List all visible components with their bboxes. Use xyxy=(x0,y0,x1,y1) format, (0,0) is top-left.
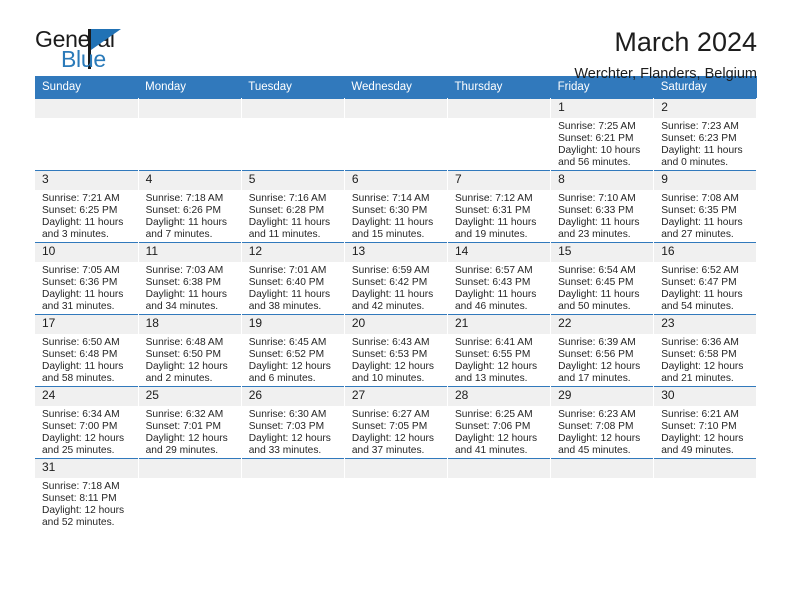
sunrise-text: Sunrise: 7:18 AM xyxy=(42,481,134,493)
daylight-text-line2: and 31 minutes. xyxy=(42,301,134,313)
daylight-text-line2: and 11 minutes. xyxy=(249,229,340,241)
day-number: 5 xyxy=(242,171,344,190)
daylight-text-line1: Daylight: 12 hours xyxy=(146,361,237,373)
sunrise-text: Sunrise: 6:54 AM xyxy=(558,265,649,277)
weekday-header-thursday: Thursday xyxy=(448,76,551,99)
calendar-cell-empty xyxy=(138,99,241,171)
day-number: 12 xyxy=(242,243,344,262)
calendar-day-cell[interactable]: 14Sunrise: 6:57 AMSunset: 6:43 PMDayligh… xyxy=(448,243,551,315)
daylight-text-line1: Daylight: 12 hours xyxy=(558,433,649,445)
calendar-week-row: 17Sunrise: 6:50 AMSunset: 6:48 PMDayligh… xyxy=(35,315,757,387)
calendar-day-cell[interactable]: 12Sunrise: 7:01 AMSunset: 6:40 PMDayligh… xyxy=(241,243,344,315)
sunset-text: Sunset: 6:31 PM xyxy=(455,205,546,217)
sunrise-text: Sunrise: 6:27 AM xyxy=(352,409,443,421)
day-details: Sunrise: 7:18 AMSunset: 6:26 PMDaylight:… xyxy=(139,190,241,241)
calendar-cell-empty xyxy=(448,99,551,171)
day-number-strip xyxy=(654,459,756,478)
calendar-day-cell[interactable]: 29Sunrise: 6:23 AMSunset: 7:08 PMDayligh… xyxy=(551,387,654,459)
daylight-text-line1: Daylight: 12 hours xyxy=(249,361,340,373)
daylight-text-line2: and 41 minutes. xyxy=(455,445,546,457)
sunrise-text: Sunrise: 7:25 AM xyxy=(558,121,649,133)
sunrise-text: Sunrise: 7:21 AM xyxy=(42,193,134,205)
day-number-strip xyxy=(139,99,241,118)
day-details: Sunrise: 6:52 AMSunset: 6:47 PMDaylight:… xyxy=(654,262,756,313)
daylight-text-line2: and 38 minutes. xyxy=(249,301,340,313)
daylight-text-line2: and 56 minutes. xyxy=(558,157,649,169)
daylight-text-line2: and 34 minutes. xyxy=(146,301,237,313)
day-details: Sunrise: 6:21 AMSunset: 7:10 PMDaylight:… xyxy=(654,406,756,457)
calendar-cell-empty xyxy=(344,459,447,531)
day-details: Sunrise: 6:41 AMSunset: 6:55 PMDaylight:… xyxy=(448,334,550,385)
sunset-text: Sunset: 6:26 PM xyxy=(146,205,237,217)
sunset-text: Sunset: 7:08 PM xyxy=(558,421,649,433)
sunrise-text: Sunrise: 6:41 AM xyxy=(455,337,546,349)
day-number: 4 xyxy=(139,171,241,190)
logo-text-blue: Blue xyxy=(61,48,106,71)
sunrise-text: Sunrise: 6:59 AM xyxy=(352,265,443,277)
daylight-text-line1: Daylight: 11 hours xyxy=(661,289,752,301)
daylight-text-line2: and 58 minutes. xyxy=(42,373,134,385)
day-details: Sunrise: 7:25 AMSunset: 6:21 PMDaylight:… xyxy=(551,118,653,169)
day-number: 21 xyxy=(448,315,550,334)
daylight-text-line1: Daylight: 11 hours xyxy=(558,289,649,301)
calendar-week-row: 24Sunrise: 6:34 AMSunset: 7:00 PMDayligh… xyxy=(35,387,757,459)
calendar-day-cell[interactable]: 28Sunrise: 6:25 AMSunset: 7:06 PMDayligh… xyxy=(448,387,551,459)
sunrise-text: Sunrise: 7:03 AM xyxy=(146,265,237,277)
calendar-body: 1Sunrise: 7:25 AMSunset: 6:21 PMDaylight… xyxy=(35,99,757,531)
day-details: Sunrise: 6:48 AMSunset: 6:50 PMDaylight:… xyxy=(139,334,241,385)
sunset-text: Sunset: 6:55 PM xyxy=(455,349,546,361)
calendar-week-row: 10Sunrise: 7:05 AMSunset: 6:36 PMDayligh… xyxy=(35,243,757,315)
daylight-text-line2: and 6 minutes. xyxy=(249,373,340,385)
calendar-day-cell[interactable]: 6Sunrise: 7:14 AMSunset: 6:30 PMDaylight… xyxy=(344,171,447,243)
day-details: Sunrise: 6:30 AMSunset: 7:03 PMDaylight:… xyxy=(242,406,344,457)
sunset-text: Sunset: 7:05 PM xyxy=(352,421,443,433)
sunrise-text: Sunrise: 6:48 AM xyxy=(146,337,237,349)
daylight-text-line1: Daylight: 12 hours xyxy=(42,433,134,445)
calendar-day-cell[interactable]: 17Sunrise: 6:50 AMSunset: 6:48 PMDayligh… xyxy=(35,315,138,387)
sunset-text: Sunset: 6:28 PM xyxy=(249,205,340,217)
sunset-text: Sunset: 6:43 PM xyxy=(455,277,546,289)
day-number-strip xyxy=(242,459,344,478)
sunrise-text: Sunrise: 6:52 AM xyxy=(661,265,752,277)
calendar-cell-empty xyxy=(138,459,241,531)
daylight-text-line1: Daylight: 11 hours xyxy=(146,289,237,301)
sunrise-text: Sunrise: 7:16 AM xyxy=(249,193,340,205)
day-details: Sunrise: 6:23 AMSunset: 7:08 PMDaylight:… xyxy=(551,406,653,457)
day-details: Sunrise: 6:39 AMSunset: 6:56 PMDaylight:… xyxy=(551,334,653,385)
calendar-day-cell[interactable]: 26Sunrise: 6:30 AMSunset: 7:03 PMDayligh… xyxy=(241,387,344,459)
day-details: Sunrise: 7:08 AMSunset: 6:35 PMDaylight:… xyxy=(654,190,756,241)
daylight-text-line1: Daylight: 11 hours xyxy=(42,289,134,301)
day-details: Sunrise: 6:50 AMSunset: 6:48 PMDaylight:… xyxy=(35,334,138,385)
day-number: 19 xyxy=(242,315,344,334)
day-details: Sunrise: 6:59 AMSunset: 6:42 PMDaylight:… xyxy=(345,262,447,313)
calendar-day-cell[interactable]: 20Sunrise: 6:43 AMSunset: 6:53 PMDayligh… xyxy=(344,315,447,387)
calendar-day-cell[interactable]: 13Sunrise: 6:59 AMSunset: 6:42 PMDayligh… xyxy=(344,243,447,315)
daylight-text-line1: Daylight: 11 hours xyxy=(558,217,649,229)
calendar-cell-empty xyxy=(344,99,447,171)
daylight-text-line2: and 45 minutes. xyxy=(558,445,649,457)
daylight-text-line2: and 3 minutes. xyxy=(42,229,134,241)
daylight-text-line1: Daylight: 11 hours xyxy=(661,145,752,157)
day-number: 6 xyxy=(345,171,447,190)
daylight-text-line2: and 52 minutes. xyxy=(42,517,134,529)
daylight-text-line1: Daylight: 12 hours xyxy=(42,505,134,517)
sunrise-text: Sunrise: 6:21 AM xyxy=(661,409,752,421)
sunrise-text: Sunrise: 7:08 AM xyxy=(661,193,752,205)
daylight-text-line2: and 33 minutes. xyxy=(249,445,340,457)
sunrise-text: Sunrise: 6:34 AM xyxy=(42,409,134,421)
daylight-text-line2: and 17 minutes. xyxy=(558,373,649,385)
sunset-text: Sunset: 6:42 PM xyxy=(352,277,443,289)
sunrise-text: Sunrise: 7:23 AM xyxy=(661,121,752,133)
day-number: 10 xyxy=(35,243,138,262)
sunset-text: Sunset: 6:21 PM xyxy=(558,133,649,145)
daylight-text-line2: and 10 minutes. xyxy=(352,373,443,385)
day-details: Sunrise: 7:12 AMSunset: 6:31 PMDaylight:… xyxy=(448,190,550,241)
day-number: 9 xyxy=(654,171,756,190)
daylight-text-line1: Daylight: 11 hours xyxy=(352,289,443,301)
calendar-day-cell[interactable]: 24Sunrise: 6:34 AMSunset: 7:00 PMDayligh… xyxy=(35,387,138,459)
sunrise-text: Sunrise: 6:57 AM xyxy=(455,265,546,277)
calendar-day-cell[interactable]: 7Sunrise: 7:12 AMSunset: 6:31 PMDaylight… xyxy=(448,171,551,243)
daylight-text-line1: Daylight: 11 hours xyxy=(352,217,443,229)
daylight-text-line2: and 37 minutes. xyxy=(352,445,443,457)
day-number-strip xyxy=(242,99,344,118)
sunrise-text: Sunrise: 6:39 AM xyxy=(558,337,649,349)
calendar-cell-empty xyxy=(241,459,344,531)
general-blue-logo[interactable]: General Blue xyxy=(35,28,165,76)
day-details: Sunrise: 6:45 AMSunset: 6:52 PMDaylight:… xyxy=(242,334,344,385)
day-number-strip xyxy=(448,99,550,118)
sunset-text: Sunset: 7:00 PM xyxy=(42,421,134,433)
sunrise-text: Sunrise: 6:32 AM xyxy=(146,409,237,421)
daylight-text-line1: Daylight: 10 hours xyxy=(558,145,649,157)
sunset-text: Sunset: 8:11 PM xyxy=(42,493,134,505)
sunset-text: Sunset: 6:48 PM xyxy=(42,349,134,361)
sunset-text: Sunset: 6:35 PM xyxy=(661,205,752,217)
calendar-day-cell[interactable]: 18Sunrise: 6:48 AMSunset: 6:50 PMDayligh… xyxy=(138,315,241,387)
daylight-text-line2: and 0 minutes. xyxy=(661,157,752,169)
day-details: Sunrise: 7:01 AMSunset: 6:40 PMDaylight:… xyxy=(242,262,344,313)
daylight-text-line2: and 15 minutes. xyxy=(352,229,443,241)
day-details: Sunrise: 7:10 AMSunset: 6:33 PMDaylight:… xyxy=(551,190,653,241)
sunset-text: Sunset: 6:33 PM xyxy=(558,205,649,217)
daylight-text-line1: Daylight: 11 hours xyxy=(42,217,134,229)
daylight-text-line1: Daylight: 11 hours xyxy=(455,217,546,229)
day-number: 2 xyxy=(654,99,756,118)
calendar-day-cell[interactable]: 8Sunrise: 7:10 AMSunset: 6:33 PMDaylight… xyxy=(551,171,654,243)
calendar-day-cell[interactable]: 19Sunrise: 6:45 AMSunset: 6:52 PMDayligh… xyxy=(241,315,344,387)
day-details: Sunrise: 7:21 AMSunset: 6:25 PMDaylight:… xyxy=(35,190,138,241)
calendar-day-cell[interactable]: 15Sunrise: 6:54 AMSunset: 6:45 PMDayligh… xyxy=(551,243,654,315)
sunset-text: Sunset: 6:53 PM xyxy=(352,349,443,361)
calendar-cell-empty xyxy=(35,99,138,171)
sunrise-text: Sunrise: 7:14 AM xyxy=(352,193,443,205)
day-number-strip xyxy=(35,99,138,118)
sunset-text: Sunset: 6:36 PM xyxy=(42,277,134,289)
daylight-text-line1: Daylight: 11 hours xyxy=(455,289,546,301)
day-number: 22 xyxy=(551,315,653,334)
sunrise-text: Sunrise: 6:30 AM xyxy=(249,409,340,421)
day-details: Sunrise: 7:14 AMSunset: 6:30 PMDaylight:… xyxy=(345,190,447,241)
daylight-text-line2: and 13 minutes. xyxy=(455,373,546,385)
calendar-day-cell[interactable]: 2Sunrise: 7:23 AMSunset: 6:23 PMDaylight… xyxy=(654,99,757,171)
daylight-text-line1: Daylight: 11 hours xyxy=(661,217,752,229)
day-number: 1 xyxy=(551,99,653,118)
daylight-text-line2: and 25 minutes. xyxy=(42,445,134,457)
daylight-text-line2: and 49 minutes. xyxy=(661,445,752,457)
day-number-strip xyxy=(139,459,241,478)
sunrise-text: Sunrise: 6:25 AM xyxy=(455,409,546,421)
day-number: 18 xyxy=(139,315,241,334)
sunrise-text: Sunrise: 6:43 AM xyxy=(352,337,443,349)
daylight-text-line1: Daylight: 11 hours xyxy=(249,289,340,301)
day-number-strip xyxy=(551,459,653,478)
day-details: Sunrise: 6:25 AMSunset: 7:06 PMDaylight:… xyxy=(448,406,550,457)
day-number: 20 xyxy=(345,315,447,334)
day-details: Sunrise: 7:18 AMSunset: 8:11 PMDaylight:… xyxy=(35,478,138,529)
calendar-day-cell[interactable]: 30Sunrise: 6:21 AMSunset: 7:10 PMDayligh… xyxy=(654,387,757,459)
daylight-text-line2: and 2 minutes. xyxy=(146,373,237,385)
daylight-text-line2: and 27 minutes. xyxy=(661,229,752,241)
sunrise-text: Sunrise: 6:36 AM xyxy=(661,337,752,349)
calendar-day-cell[interactable]: 16Sunrise: 6:52 AMSunset: 6:47 PMDayligh… xyxy=(654,243,757,315)
day-number: 3 xyxy=(35,171,138,190)
daylight-text-line1: Daylight: 12 hours xyxy=(455,433,546,445)
weekday-header-tuesday: Tuesday xyxy=(241,76,344,99)
daylight-text-line2: and 21 minutes. xyxy=(661,373,752,385)
daylight-text-line1: Daylight: 12 hours xyxy=(352,361,443,373)
page-header: General Blue March 2024 Werchter, Flande… xyxy=(35,0,757,68)
page-title: March 2024 xyxy=(574,28,757,58)
sunset-text: Sunset: 6:47 PM xyxy=(661,277,752,289)
day-number: 24 xyxy=(35,387,138,406)
weekday-header-monday: Monday xyxy=(138,76,241,99)
day-number-strip xyxy=(448,459,550,478)
day-details: Sunrise: 7:03 AMSunset: 6:38 PMDaylight:… xyxy=(139,262,241,313)
calendar-day-cell[interactable]: 1Sunrise: 7:25 AMSunset: 6:21 PMDaylight… xyxy=(551,99,654,171)
day-details: Sunrise: 6:57 AMSunset: 6:43 PMDaylight:… xyxy=(448,262,550,313)
sunset-text: Sunset: 7:10 PM xyxy=(661,421,752,433)
sunrise-text: Sunrise: 6:45 AM xyxy=(249,337,340,349)
daylight-text-line2: and 46 minutes. xyxy=(455,301,546,313)
sunrise-text: Sunrise: 7:01 AM xyxy=(249,265,340,277)
sunrise-text: Sunrise: 7:10 AM xyxy=(558,193,649,205)
sunset-text: Sunset: 6:45 PM xyxy=(558,277,649,289)
day-number: 7 xyxy=(448,171,550,190)
day-details: Sunrise: 7:23 AMSunset: 6:23 PMDaylight:… xyxy=(654,118,756,169)
day-details: Sunrise: 6:27 AMSunset: 7:05 PMDaylight:… xyxy=(345,406,447,457)
day-number: 25 xyxy=(139,387,241,406)
calendar-day-cell[interactable]: 22Sunrise: 6:39 AMSunset: 6:56 PMDayligh… xyxy=(551,315,654,387)
calendar-cell-empty xyxy=(448,459,551,531)
calendar-week-row: 31Sunrise: 7:18 AMSunset: 8:11 PMDayligh… xyxy=(35,459,757,531)
calendar-day-cell[interactable]: 9Sunrise: 7:08 AMSunset: 6:35 PMDaylight… xyxy=(654,171,757,243)
daylight-text-line1: Daylight: 11 hours xyxy=(42,361,134,373)
sunset-text: Sunset: 7:01 PM xyxy=(146,421,237,433)
daylight-text-line2: and 42 minutes. xyxy=(352,301,443,313)
day-details: Sunrise: 6:32 AMSunset: 7:01 PMDaylight:… xyxy=(139,406,241,457)
calendar-page: General Blue March 2024 Werchter, Flande… xyxy=(0,0,792,612)
sunrise-text: Sunrise: 7:05 AM xyxy=(42,265,134,277)
day-number: 30 xyxy=(654,387,756,406)
calendar-day-cell[interactable]: 3Sunrise: 7:21 AMSunset: 6:25 PMDaylight… xyxy=(35,171,138,243)
calendar-week-row: 3Sunrise: 7:21 AMSunset: 6:25 PMDaylight… xyxy=(35,171,757,243)
day-details: Sunrise: 6:54 AMSunset: 6:45 PMDaylight:… xyxy=(551,262,653,313)
sunrise-text: Sunrise: 7:12 AM xyxy=(455,193,546,205)
calendar-day-cell[interactable]: 27Sunrise: 6:27 AMSunset: 7:05 PMDayligh… xyxy=(344,387,447,459)
calendar-day-cell[interactable]: 4Sunrise: 7:18 AMSunset: 6:26 PMDaylight… xyxy=(138,171,241,243)
sunset-text: Sunset: 6:40 PM xyxy=(249,277,340,289)
calendar-cell-empty xyxy=(241,99,344,171)
calendar-day-cell[interactable]: 21Sunrise: 6:41 AMSunset: 6:55 PMDayligh… xyxy=(448,315,551,387)
sunset-text: Sunset: 6:58 PM xyxy=(661,349,752,361)
weekday-header-wednesday: Wednesday xyxy=(344,76,447,99)
daylight-text-line1: Daylight: 12 hours xyxy=(661,433,752,445)
sunset-text: Sunset: 6:30 PM xyxy=(352,205,443,217)
calendar-day-cell[interactable]: 25Sunrise: 6:32 AMSunset: 7:01 PMDayligh… xyxy=(138,387,241,459)
day-number: 23 xyxy=(654,315,756,334)
day-number: 13 xyxy=(345,243,447,262)
sunset-text: Sunset: 6:56 PM xyxy=(558,349,649,361)
day-number: 27 xyxy=(345,387,447,406)
day-number-strip xyxy=(345,459,447,478)
day-number: 14 xyxy=(448,243,550,262)
daylight-text-line1: Daylight: 12 hours xyxy=(661,361,752,373)
sunset-text: Sunset: 7:03 PM xyxy=(249,421,340,433)
daylight-text-line1: Daylight: 11 hours xyxy=(146,217,237,229)
sunset-text: Sunset: 6:52 PM xyxy=(249,349,340,361)
calendar-cell-empty xyxy=(654,459,757,531)
daylight-text-line1: Daylight: 12 hours xyxy=(352,433,443,445)
day-number: 29 xyxy=(551,387,653,406)
daylight-text-line2: and 54 minutes. xyxy=(661,301,752,313)
daylight-text-line1: Daylight: 12 hours xyxy=(249,433,340,445)
day-number-strip xyxy=(345,99,447,118)
day-details: Sunrise: 6:36 AMSunset: 6:58 PMDaylight:… xyxy=(654,334,756,385)
calendar-day-cell[interactable]: 23Sunrise: 6:36 AMSunset: 6:58 PMDayligh… xyxy=(654,315,757,387)
day-details: Sunrise: 7:16 AMSunset: 6:28 PMDaylight:… xyxy=(242,190,344,241)
title-block: March 2024 Werchter, Flanders, Belgium xyxy=(574,28,757,83)
daylight-text-line1: Daylight: 12 hours xyxy=(558,361,649,373)
sunset-text: Sunset: 6:23 PM xyxy=(661,133,752,145)
calendar-day-cell[interactable]: 5Sunrise: 7:16 AMSunset: 6:28 PMDaylight… xyxy=(241,171,344,243)
day-number: 16 xyxy=(654,243,756,262)
calendar-cell-empty xyxy=(551,459,654,531)
daylight-text-line2: and 23 minutes. xyxy=(558,229,649,241)
weekday-header-sunday: Sunday xyxy=(35,76,138,99)
sunrise-text: Sunrise: 6:50 AM xyxy=(42,337,134,349)
daylight-text-line1: Daylight: 12 hours xyxy=(455,361,546,373)
sunset-text: Sunset: 6:25 PM xyxy=(42,205,134,217)
sunset-text: Sunset: 6:38 PM xyxy=(146,277,237,289)
daylight-text-line2: and 7 minutes. xyxy=(146,229,237,241)
day-number: 15 xyxy=(551,243,653,262)
sunset-text: Sunset: 6:50 PM xyxy=(146,349,237,361)
daylight-text-line1: Daylight: 12 hours xyxy=(146,433,237,445)
day-details: Sunrise: 6:34 AMSunset: 7:00 PMDaylight:… xyxy=(35,406,138,457)
sunrise-text: Sunrise: 6:23 AM xyxy=(558,409,649,421)
day-number: 31 xyxy=(35,459,138,478)
day-number: 28 xyxy=(448,387,550,406)
sunset-text: Sunset: 7:06 PM xyxy=(455,421,546,433)
day-number: 17 xyxy=(35,315,138,334)
day-number: 11 xyxy=(139,243,241,262)
calendar-day-cell[interactable]: 31Sunrise: 7:18 AMSunset: 8:11 PMDayligh… xyxy=(35,459,138,531)
calendar-day-cell[interactable]: 11Sunrise: 7:03 AMSunset: 6:38 PMDayligh… xyxy=(138,243,241,315)
daylight-text-line2: and 29 minutes. xyxy=(146,445,237,457)
calendar-day-cell[interactable]: 10Sunrise: 7:05 AMSunset: 6:36 PMDayligh… xyxy=(35,243,138,315)
calendar-week-row: 1Sunrise: 7:25 AMSunset: 6:21 PMDaylight… xyxy=(35,99,757,171)
sunrise-text: Sunrise: 7:18 AM xyxy=(146,193,237,205)
day-number: 26 xyxy=(242,387,344,406)
day-number: 8 xyxy=(551,171,653,190)
daylight-text-line2: and 50 minutes. xyxy=(558,301,649,313)
day-details: Sunrise: 6:43 AMSunset: 6:53 PMDaylight:… xyxy=(345,334,447,385)
day-details: Sunrise: 7:05 AMSunset: 6:36 PMDaylight:… xyxy=(35,262,138,313)
daylight-text-line1: Daylight: 11 hours xyxy=(249,217,340,229)
daylight-text-line2: and 19 minutes. xyxy=(455,229,546,241)
sunrise-sunset-calendar-table: Sunday Monday Tuesday Wednesday Thursday… xyxy=(35,76,757,531)
